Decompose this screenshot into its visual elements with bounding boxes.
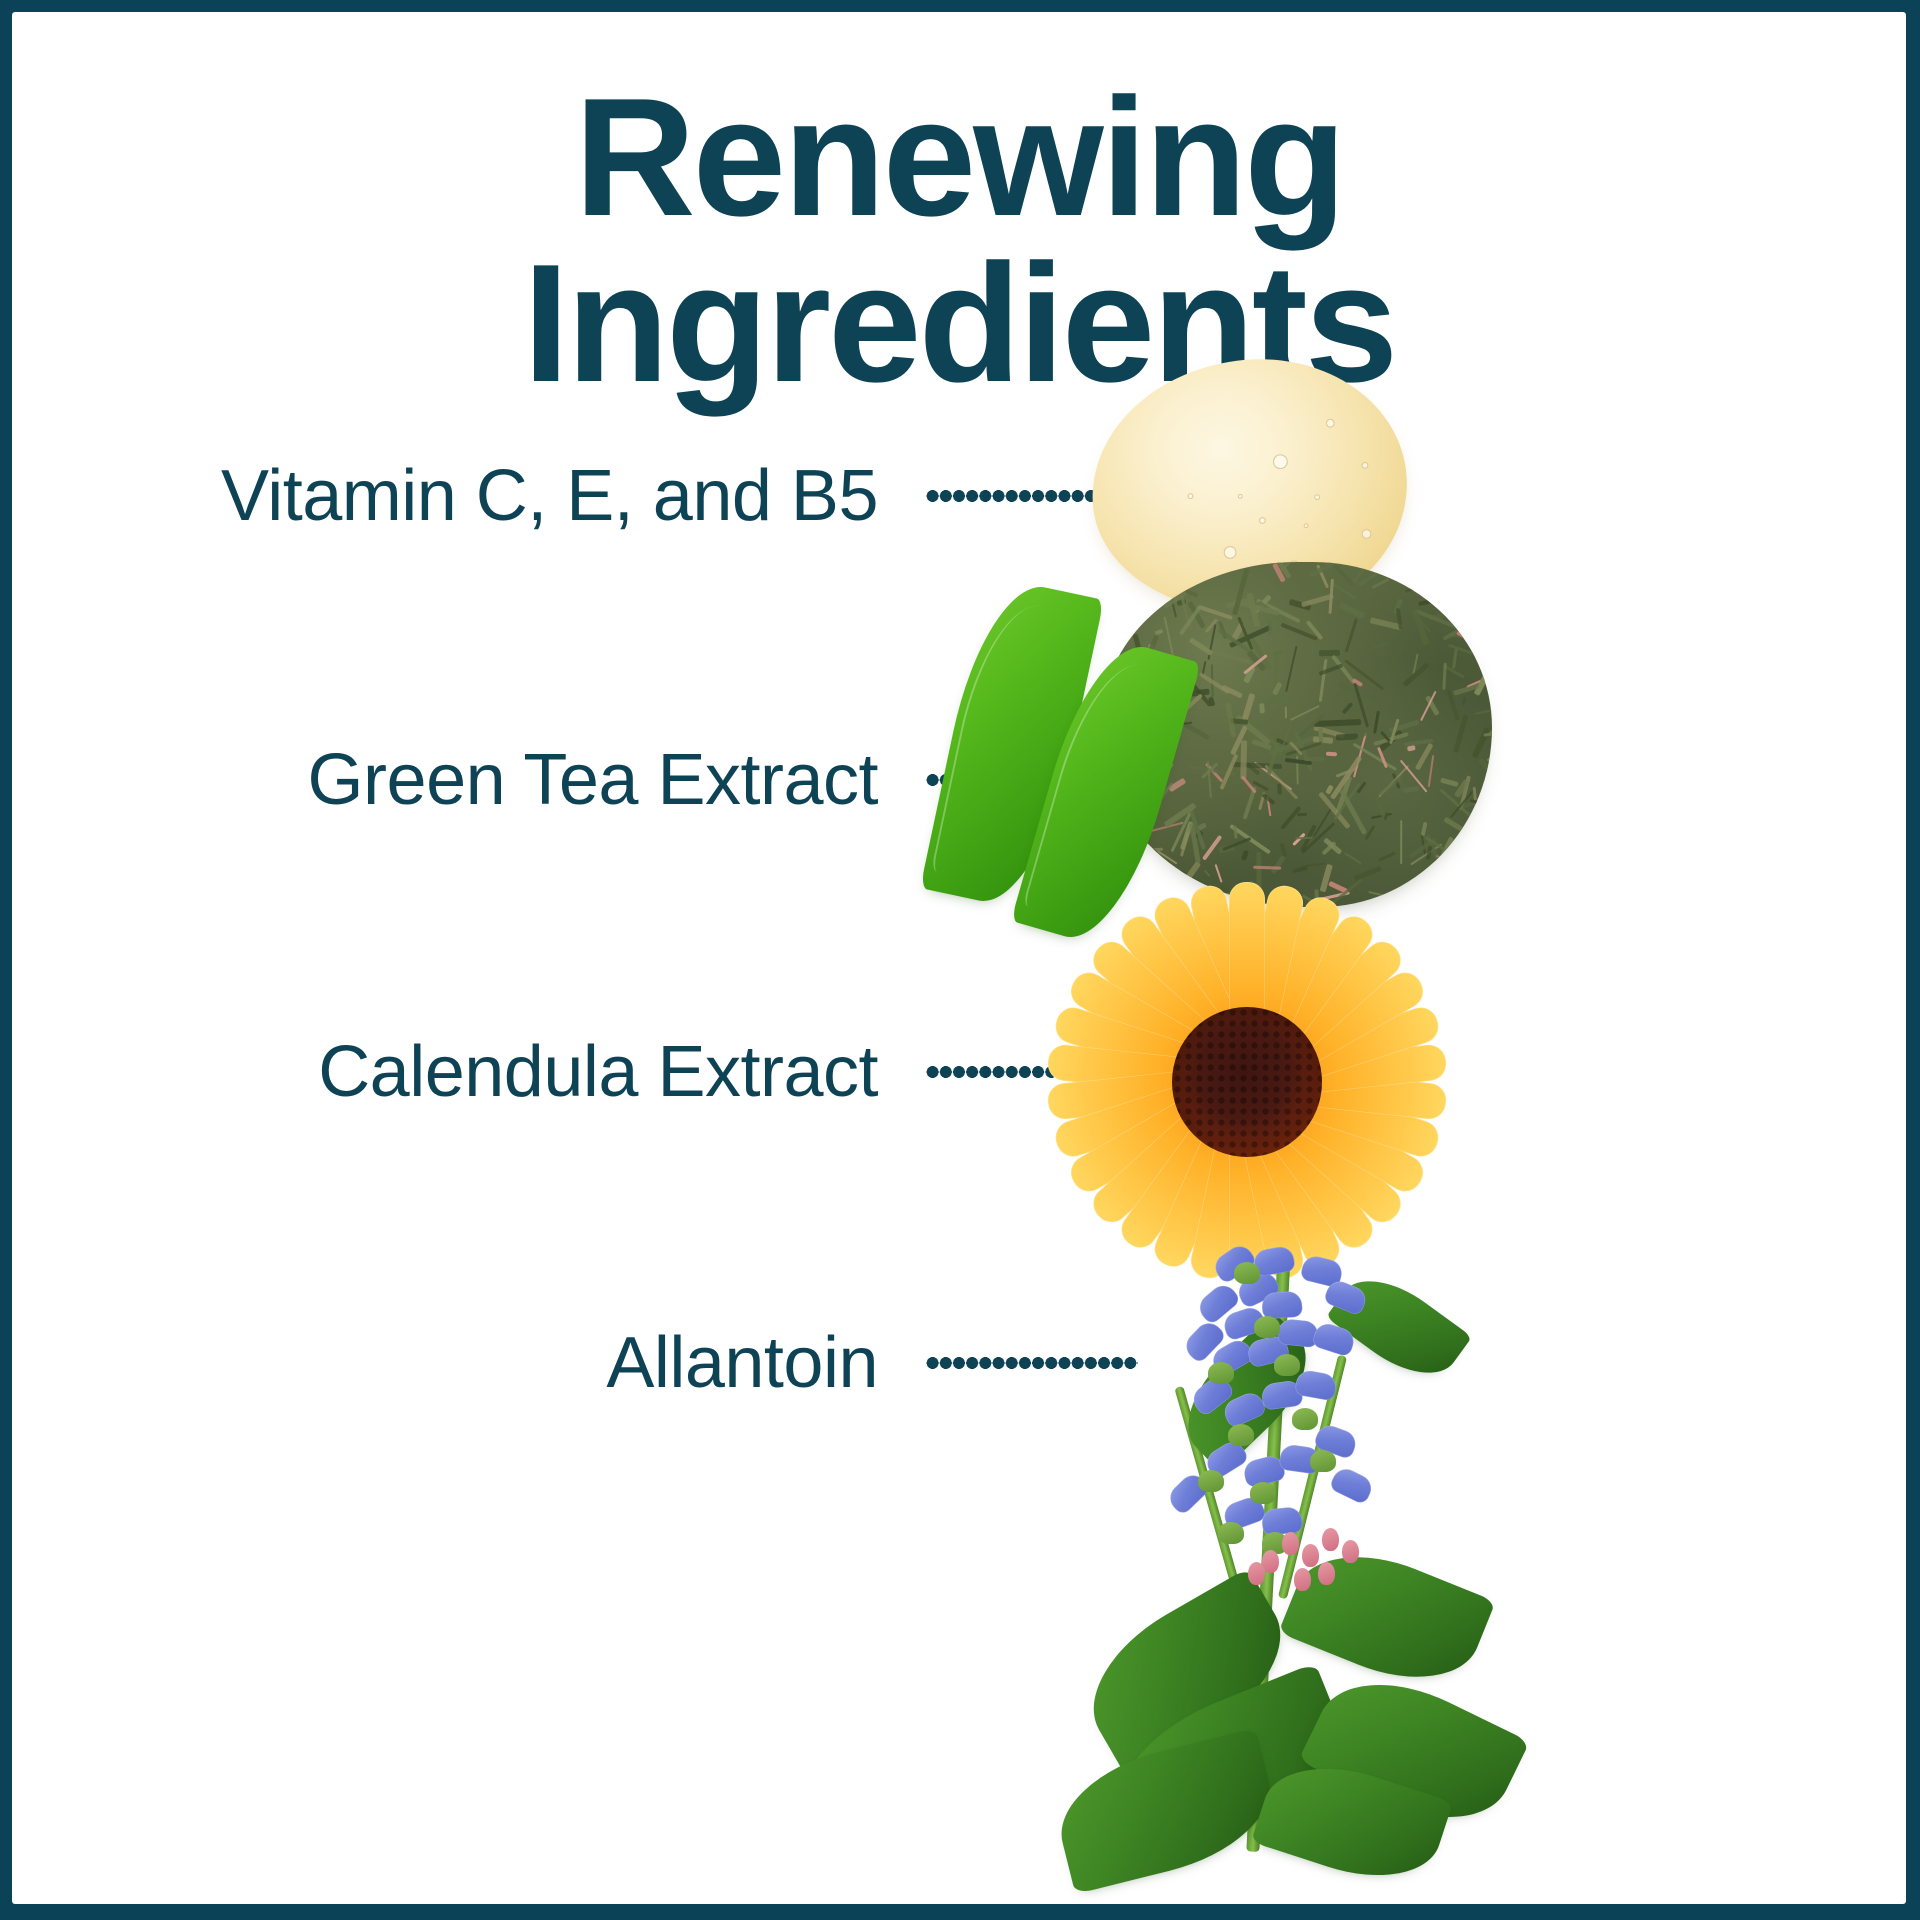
ingredient-label-vitamins: Vitamin C, E, and B5 — [221, 460, 878, 532]
tea-leaf-fragment — [1232, 568, 1250, 616]
page-title-line-1: Renewing — [12, 74, 1906, 240]
calendula-center — [1172, 1007, 1322, 1157]
serum-bubble-icon — [1361, 462, 1369, 470]
comfrey-calyx — [1274, 1354, 1300, 1376]
serum-bubble-icon — [1361, 528, 1372, 539]
serum-bubble-icon — [1187, 492, 1194, 499]
tea-leaf-fragment — [1304, 757, 1324, 762]
comfrey-calyx — [1198, 1470, 1224, 1492]
comfrey-image — [962, 1232, 1522, 1892]
tea-leaf-fragment — [1371, 578, 1389, 589]
serum-bubble-icon — [1313, 494, 1320, 501]
tea-leaf-fragment — [1378, 852, 1396, 862]
comfrey-leaf — [1047, 1728, 1284, 1895]
tea-leaf-fragment — [1475, 709, 1492, 715]
tea-leaf-fragment — [1457, 846, 1461, 883]
calendula-image — [1037, 872, 1457, 1292]
tea-leaf-fragment — [1319, 664, 1344, 676]
tea-leaf-fragment — [1280, 806, 1301, 830]
tea-leaf-fragment — [1124, 597, 1165, 604]
tea-leaf-fragment — [1319, 659, 1328, 702]
comfrey-calyx — [1250, 1482, 1276, 1504]
comfrey-bell-flower — [1277, 1318, 1319, 1348]
tea-leaf-fragment — [1241, 741, 1248, 780]
comfrey-calyx — [1208, 1362, 1234, 1384]
tea-leaf-fragment — [1285, 706, 1288, 718]
tea-leaf-fragment — [1364, 825, 1375, 840]
tea-leaf-fragment — [1151, 861, 1157, 870]
serum-bubble-icon — [1326, 419, 1336, 429]
tea-leaf-fragment — [1232, 762, 1282, 769]
tea-leaf-fragment — [1314, 719, 1362, 727]
comfrey-calyx — [1292, 1408, 1318, 1430]
tea-leaf-fragment — [1242, 693, 1255, 721]
tea-leaf-fragment — [1442, 663, 1446, 690]
comfrey-calyx — [1310, 1450, 1336, 1472]
comfrey-bud — [1294, 1568, 1311, 1591]
comfrey-calyx — [1254, 1316, 1280, 1338]
comfrey-calyx — [1234, 1262, 1260, 1284]
tea-leaf-fragment — [1268, 620, 1272, 636]
ingredient-label-calendula: Calendula Extract — [318, 1036, 878, 1108]
tea-leaf-fragment — [1463, 589, 1481, 607]
comfrey-bud — [1318, 1562, 1335, 1585]
poster-card: Renewing Ingredients Vitamin C, E, and B… — [12, 12, 1906, 1904]
tea-leaf-fragment — [1285, 646, 1297, 692]
tea-leaf-fragment — [1363, 568, 1379, 573]
tea-leaf-fragment — [1241, 850, 1249, 861]
tea-leaf-fragment — [1233, 826, 1237, 840]
tea-leaf-fragment — [1440, 778, 1459, 787]
tea-leaf-fragment — [1452, 714, 1468, 753]
tea-leaf-fragment — [1403, 662, 1430, 687]
comfrey-calyx — [1228, 1424, 1254, 1446]
tea-leaf-fragment — [1427, 755, 1434, 787]
tea-leaf-fragment — [1279, 842, 1286, 857]
tea-leaf-fragment — [1425, 846, 1431, 860]
tea-leaf-fragment — [1373, 711, 1380, 734]
tea-leaf-fragment — [1329, 579, 1335, 614]
tea-leaf-fragment — [1222, 838, 1251, 851]
comfrey-leaf — [1326, 1260, 1472, 1393]
serum-bubble-icon — [1272, 454, 1288, 470]
tea-leaf-fragment — [1403, 786, 1420, 793]
comfrey-bud — [1342, 1540, 1359, 1563]
tea-leaf-fragment — [1419, 592, 1464, 607]
serum-bubble-icon — [1237, 493, 1242, 498]
tea-leaf-fragment — [1338, 602, 1365, 619]
serum-bubble-icon — [1223, 545, 1237, 559]
tea-leaf-fragment — [1319, 650, 1340, 657]
tea-leaf-fragment — [1400, 820, 1402, 864]
ingredient-artwork-column — [942, 342, 1906, 1904]
tea-leaf-fragment — [1259, 704, 1264, 714]
comfrey-bell-flower — [1328, 1465, 1375, 1506]
ingredient-label-allantoin: Allantoin — [606, 1327, 878, 1399]
tea-leaf-fragment — [1339, 788, 1367, 834]
tea-leaf-fragment — [1407, 745, 1416, 751]
tea-leaf-fragment — [1154, 629, 1163, 636]
serum-bubble-icon — [1258, 517, 1266, 525]
tea-leaf-fragment — [1344, 852, 1362, 865]
tea-leaf-fragment — [1277, 784, 1282, 795]
serum-bubble-icon — [1303, 523, 1308, 528]
tea-leaf-fragment — [1491, 683, 1492, 697]
ingredient-label-green-tea: Green Tea Extract — [308, 744, 878, 816]
tea-leaf-fragment — [1253, 865, 1281, 869]
comfrey-bud — [1322, 1528, 1339, 1551]
tea-leaf-fragment — [1452, 648, 1458, 668]
comfrey-bell-flower — [1261, 1506, 1303, 1536]
comfrey-calyx — [1218, 1522, 1244, 1544]
tea-leaf-fragment — [1157, 850, 1178, 865]
tea-leaf-fragment — [1488, 729, 1492, 742]
comfrey-bud — [1248, 1562, 1265, 1585]
tea-leaf-fragment — [1467, 562, 1492, 574]
tea-leaf-fragment — [1326, 752, 1337, 757]
tea-leaf-fragment — [1297, 813, 1307, 817]
poster-frame: Renewing Ingredients Vitamin C, E, and B… — [0, 0, 1920, 1920]
comfrey-bud — [1302, 1544, 1319, 1567]
tea-leaf-fragment — [1372, 642, 1388, 649]
tea-leaf-fragment — [1462, 697, 1467, 706]
comfrey-bud — [1282, 1532, 1299, 1555]
tea-leaf-fragment — [1345, 619, 1358, 653]
